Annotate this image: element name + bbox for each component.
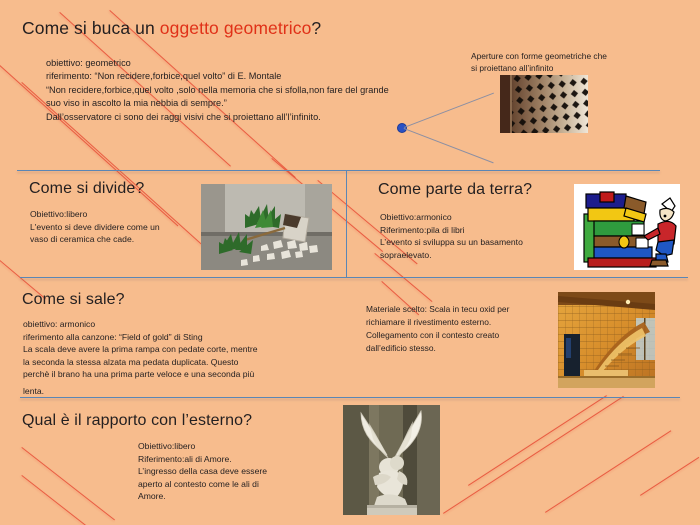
body-line: sopraelevato. xyxy=(380,249,570,262)
section-body-sale: obiettivo: armonico riferimento alla can… xyxy=(23,318,353,398)
body-line: L’evento si sviluppa su un basamento xyxy=(380,236,570,249)
title-text-plain: Come si sale? xyxy=(22,291,125,308)
title-text-plain: Qual è il rapporto con l’esterno? xyxy=(22,412,252,429)
caption-line: richiamare il rivestimento esterno. xyxy=(366,316,566,329)
body-line: “Non recidere,forbice,quel volto ,solo n… xyxy=(46,84,446,97)
divider-row2 xyxy=(20,277,688,278)
divider-row1 xyxy=(17,170,660,171)
body-line: lenta. xyxy=(23,385,353,398)
body-line: Riferimento:ali di Amore. xyxy=(138,453,328,466)
body-line: la seconda la stessa alzata ma pedata du… xyxy=(23,356,353,369)
title-text-plain: Come si divide? xyxy=(29,180,144,197)
title-text-plain: Come parte da terra? xyxy=(378,181,532,198)
caption-aperture: Aperture con forme geometriche che si pr… xyxy=(471,50,686,74)
divider-column-middle xyxy=(346,171,347,277)
section-body-parte-da-terra: Obiettivo:armonico Riferimento:pila di l… xyxy=(380,211,570,261)
body-line: Obiettivo:armonico xyxy=(380,211,570,224)
section-title-esterno: Qual è il rapporto con l’esterno? xyxy=(22,412,252,430)
section-body-esterno: Obiettivo:libero Riferimento:ali di Amor… xyxy=(138,440,328,503)
red-diagonal-line xyxy=(640,457,699,496)
image-cupid-and-psyche-sculpture xyxy=(343,405,440,515)
section-body-geometrico: obiettivo: geometrico riferimento: “Non … xyxy=(46,57,446,124)
image-perforated-lattice-panel xyxy=(500,75,588,133)
caption-line: Collegamento con il contesto creato xyxy=(366,329,566,342)
body-line: perchè il brano ha una prima parte veloc… xyxy=(23,368,353,381)
section-title-sale: Come si sale? xyxy=(22,291,125,309)
caption-line: Aperture con forme geometriche che xyxy=(471,50,686,62)
body-line: Dall’osservatore ci sono dei raggi visiv… xyxy=(46,111,446,124)
body-line: L'evento si deve dividere come un xyxy=(30,221,210,234)
body-line: Riferimento:pila di libri xyxy=(380,224,570,237)
caption-materiale-scelto: Materiale scelto: Scala in tecu oxid per… xyxy=(366,303,566,355)
caption-line: dall’edificio stesso. xyxy=(366,342,566,355)
red-diagonal-line xyxy=(21,475,108,525)
section-title-parte-da-terra: Come parte da terra? xyxy=(378,181,532,199)
body-line: La scala deve avere la prima rampa con p… xyxy=(23,343,353,356)
body-line: aperto al contesto come le ali di xyxy=(138,478,328,491)
caption-line: Materiale scelto: Scala in tecu oxid per xyxy=(366,303,566,316)
red-diagonal-line xyxy=(468,395,607,486)
body-line: obiettivo: armonico xyxy=(23,318,353,331)
body-line: Obiettivo:libero xyxy=(138,440,328,453)
section-body-divide: Obiettivo:libero L'evento si deve divide… xyxy=(30,208,210,246)
body-line: Amore. xyxy=(138,490,328,503)
title-text-plain: Come si buca un xyxy=(22,18,160,38)
body-line: riferimento alla canzone: “Field of gold… xyxy=(23,331,353,344)
body-line: obiettivo: geometrico xyxy=(46,57,446,70)
title-text-highlight: oggetto geometrico xyxy=(160,18,312,38)
section-title-divide: Come si divide? xyxy=(29,180,144,198)
red-diagonal-line xyxy=(545,430,671,513)
body-line: suo viso in ascolto la mia nebbia di sem… xyxy=(46,97,446,110)
body-line: vaso di ceramica che cade. xyxy=(30,233,210,246)
red-diagonal-line xyxy=(21,447,115,520)
red-diagonal-line xyxy=(443,396,624,514)
body-line: Obiettivo:libero xyxy=(30,208,210,221)
vision-ray-lower xyxy=(404,128,494,163)
image-stack-of-books-clipart xyxy=(574,184,680,270)
image-golden-wooden-staircase xyxy=(558,292,655,388)
presentation-slide: Come si buca un oggetto geometrico? obie… xyxy=(0,0,700,525)
title-text-tail: ? xyxy=(311,18,321,38)
image-broken-ceramic-vase-plant xyxy=(201,184,332,270)
body-line: L’ingresso della casa deve essere xyxy=(138,465,328,478)
body-line: riferimento: “Non recidere,forbice,quel … xyxy=(46,70,446,83)
caption-line: si proiettano all’infinito xyxy=(471,62,686,74)
section-title-geometrico: Come si buca un oggetto geometrico? xyxy=(22,18,321,39)
